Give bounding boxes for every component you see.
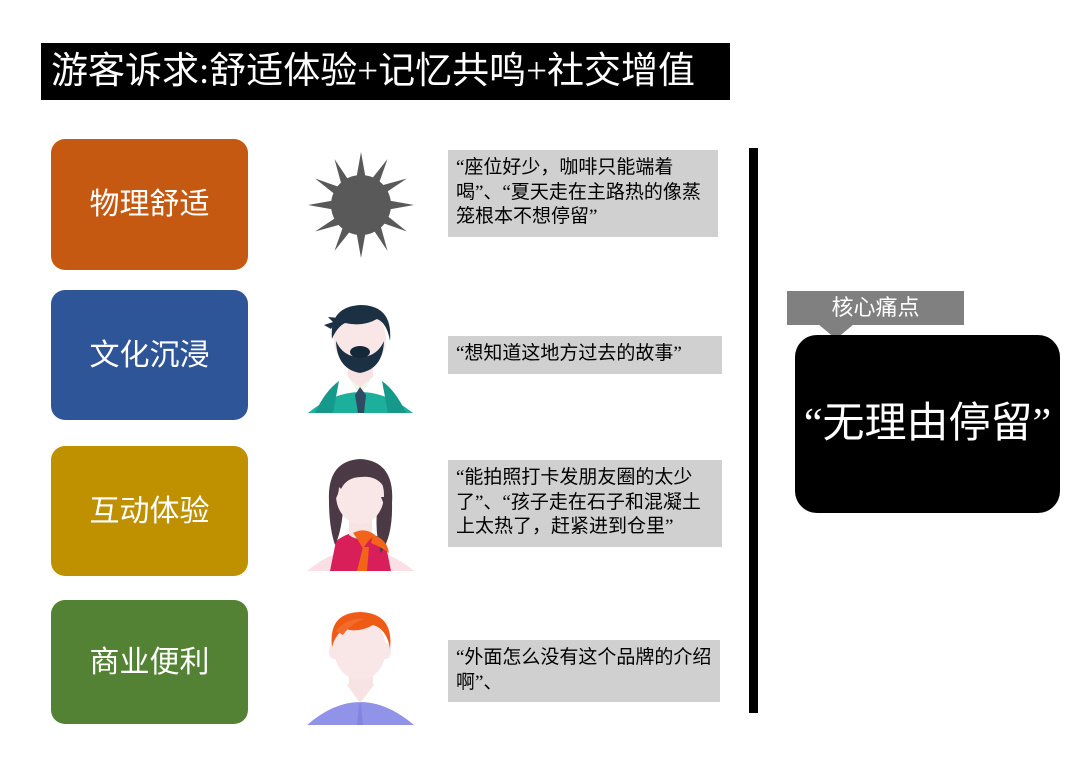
category-chip-interactive-experience[interactable]: 互动体验 [51,446,248,576]
sun-icon [293,140,428,270]
bearded-man-avatar-icon [293,290,428,420]
slide-canvas: 游客诉求:舒适体验+记忆共鸣+社交增值 物理舒适 文化沉浸 互动体验 商业便利 [0,0,1080,764]
core-pain-point-statement: “无理由停留” [795,335,1060,513]
category-chip-commercial-convenience[interactable]: 商业便利 [51,600,248,724]
core-pain-point-label-text: 核心痛点 [831,297,919,319]
core-pain-point-label: 核心痛点 [787,291,964,325]
red-haired-man-avatar-icon [293,600,428,730]
page-title-text: 游客诉求:舒适体验+记忆共鸣+社交增值 [51,53,695,90]
category-chip-label: 互动体验 [90,495,210,528]
quote-box-commercial-convenience: “外面怎么没有这个品牌的介绍啊”、 [448,640,720,702]
quote-box-physical-comfort: “座位好少，咖啡只能端着喝”、“夏天走在主路热的像蒸笼根本不想停留” [448,150,718,237]
vertical-divider [749,148,758,713]
category-chip-label: 商业便利 [90,646,210,679]
quote-box-cultural-immersion: “想知道这地方过去的故事” [448,336,722,374]
category-chip-label: 文化沉浸 [90,339,210,372]
woman-avatar-icon [293,446,428,576]
category-chip-cultural-immersion[interactable]: 文化沉浸 [51,290,248,420]
page-title: 游客诉求:舒适体验+记忆共鸣+社交增值 [41,43,730,100]
category-chip-label: 物理舒适 [90,188,210,221]
category-chip-physical-comfort[interactable]: 物理舒适 [51,139,248,270]
core-pain-point-statement-text: “无理由停留” [804,403,1051,445]
quote-box-interactive-experience: “能拍照打卡发朋友圈的太少了”、“孩子走在石子和混凝土上太热了，赶紧进到仓里” [448,460,722,547]
